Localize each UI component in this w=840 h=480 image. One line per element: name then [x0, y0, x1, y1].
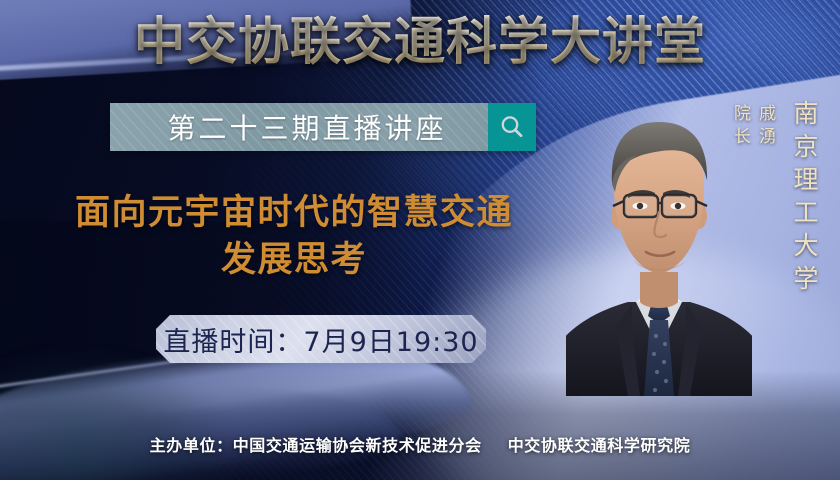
speaker-portrait	[566, 96, 752, 396]
page-title: 中交协联交通科学大讲堂	[0, 14, 840, 72]
speaker-name-title: 戚湧 院长	[728, 104, 778, 150]
episode-label: 第二十三期直播讲座	[110, 103, 488, 151]
footer-organizers: 主办单位：中国交通运输协会新技术促进分会中交协联交通科学研究院	[0, 432, 840, 456]
footer-organizer-2: 中交协联交通科学研究院	[508, 436, 691, 455]
footer-prefix: 主办单位：	[150, 436, 233, 455]
lecture-title-line-2: 发展思考	[34, 237, 554, 284]
speaker-affiliation: 南京理工大学	[786, 100, 822, 298]
lecture-title-line-1: 面向元宇宙时代的智慧交通	[34, 190, 554, 237]
lecture-title: 面向元宇宙时代的智慧交通 发展思考	[34, 190, 554, 284]
broadcast-time-chip: 直播时间：7月9日19:30	[156, 315, 486, 363]
live-lecture-poster: 中交协联交通科学大讲堂 第二十三期直播讲座 面向元宇宙时代的智慧交通 发展思考 …	[0, 0, 840, 480]
search-button[interactable]	[488, 103, 536, 151]
footer-organizer-1: 中国交通运输协会新技术促进分会	[233, 436, 482, 455]
speaker-title: 院长	[730, 104, 750, 150]
episode-bar: 第二十三期直播讲座	[110, 103, 536, 151]
broadcast-time-label: 直播时间：7月9日19:30	[163, 320, 478, 359]
search-icon	[497, 112, 527, 142]
speaker-name: 戚湧	[755, 104, 775, 150]
